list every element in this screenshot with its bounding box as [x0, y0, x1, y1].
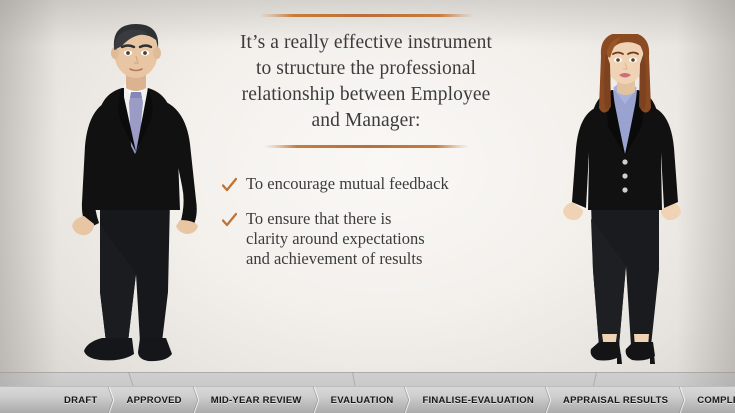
floor-horizon-line: [0, 372, 735, 373]
male-employee-illustration: [62, 24, 210, 372]
bottom-divider-rule: [264, 145, 469, 148]
list-item-label: To encourage mutual feedback: [246, 174, 449, 194]
nav-step-mid-year-review[interactable]: MID-YEAR REVIEW: [195, 387, 315, 413]
headline-line: It’s a really effective instrument: [200, 30, 532, 56]
nav-step-label: APPROVED: [126, 395, 181, 406]
bullet-line: clarity around expectations: [246, 229, 425, 249]
headline-text: It’s a really effective instrument to st…: [200, 30, 532, 134]
list-item-label: To ensure that there is clarity around e…: [246, 209, 425, 269]
workflow-progress-nav[interactable]: DRAFT APPROVED MID-YEAR REVIEW EVALUATIO…: [0, 386, 735, 413]
check-icon: [222, 212, 237, 229]
headline-line: to structure the professional: [200, 56, 532, 82]
nav-step-complete[interactable]: COMPLETE: [681, 387, 735, 413]
nav-step-label: COMPLETE: [697, 395, 735, 406]
bullet-line: and achievement of results: [246, 249, 425, 269]
nav-step-finalise-evaluation[interactable]: FINALISE-EVALUATION: [406, 387, 547, 413]
nav-step-label: EVALUATION: [331, 395, 394, 406]
check-icon: [222, 177, 237, 194]
top-divider-rule: [259, 14, 474, 17]
nav-step-evaluation[interactable]: EVALUATION: [315, 387, 407, 413]
bullet-list: To encourage mutual feedback To ensure t…: [200, 174, 532, 269]
female-manager-illustration: [555, 34, 697, 372]
list-item: To ensure that there is clarity around e…: [222, 209, 532, 269]
nav-step-label: FINALISE-EVALUATION: [422, 395, 534, 406]
slide-content: It’s a really effective instrument to st…: [200, 14, 532, 284]
nav-step-label: APPRAISAL RESULTS: [563, 395, 668, 406]
list-item: To encourage mutual feedback: [222, 174, 532, 194]
nav-step-approved[interactable]: APPROVED: [110, 387, 194, 413]
nav-step-appraisal-results[interactable]: APPRAISAL RESULTS: [547, 387, 681, 413]
presentation-slide: It’s a really effective instrument to st…: [0, 0, 735, 413]
bullet-line: To ensure that there is: [246, 209, 425, 229]
bullet-line: To encourage mutual feedback: [246, 174, 449, 194]
headline-line: and Manager:: [200, 108, 532, 134]
nav-step-label: DRAFT: [64, 395, 97, 406]
left-vignette: [0, 0, 58, 413]
headline-line: relationship between Employee: [200, 82, 532, 108]
nav-step-label: MID-YEAR REVIEW: [211, 395, 302, 406]
nav-step-draft[interactable]: DRAFT: [0, 387, 110, 413]
